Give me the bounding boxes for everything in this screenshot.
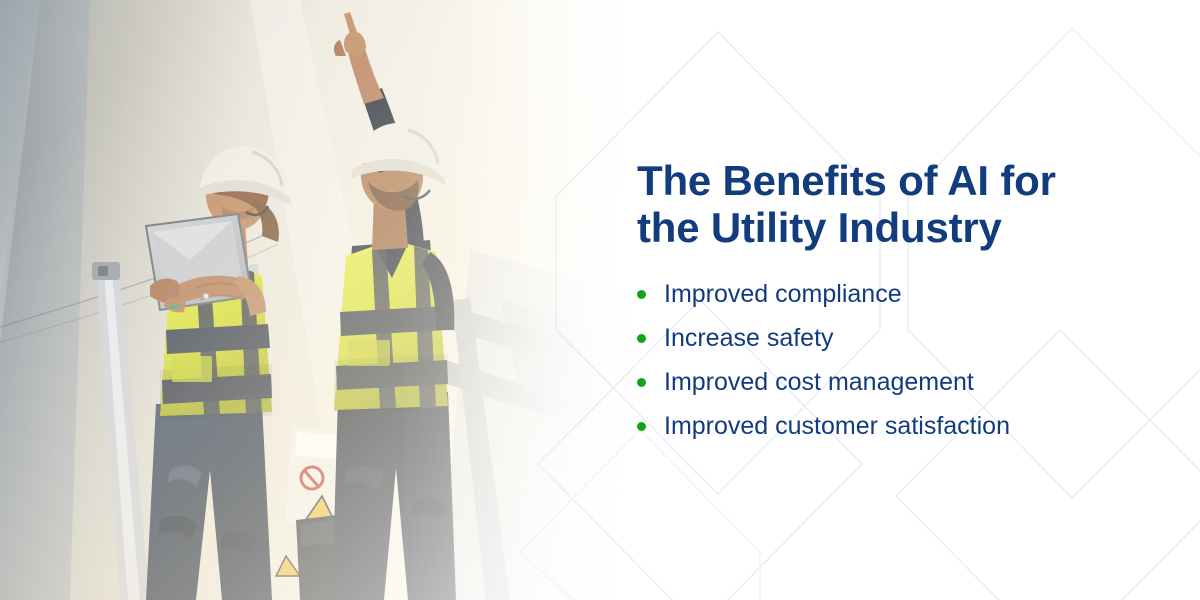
list-item-label: Improved compliance bbox=[664, 280, 902, 308]
list-item: Improved compliance bbox=[637, 272, 1117, 316]
benefits-banner: The Benefits of AI for the Utility Indus… bbox=[0, 0, 1200, 600]
page-title: The Benefits of AI for the Utility Indus… bbox=[637, 157, 1107, 251]
list-item-label: Increase safety bbox=[664, 324, 834, 352]
bullet-dot-icon bbox=[637, 334, 646, 343]
benefits-list: Improved compliance Increase safety Impr… bbox=[637, 272, 1117, 448]
list-item: Improved customer satisfaction bbox=[637, 404, 1117, 448]
list-item: Increase safety bbox=[637, 316, 1117, 360]
headline-line-1: The Benefits of AI for bbox=[637, 157, 1056, 204]
workers-photo bbox=[0, 0, 660, 600]
headline-line-2: the Utility Industry bbox=[637, 204, 1107, 251]
bullet-dot-icon bbox=[637, 422, 646, 431]
list-item-label: Improved customer satisfaction bbox=[664, 412, 1010, 440]
bullet-dot-icon bbox=[637, 378, 646, 387]
bullet-dot-icon bbox=[637, 290, 646, 299]
content-column: The Benefits of AI for the Utility Indus… bbox=[637, 0, 1157, 600]
list-item-label: Improved cost management bbox=[664, 368, 974, 396]
list-item: Improved cost management bbox=[637, 360, 1117, 404]
workers-photo-artwork bbox=[0, 0, 660, 600]
